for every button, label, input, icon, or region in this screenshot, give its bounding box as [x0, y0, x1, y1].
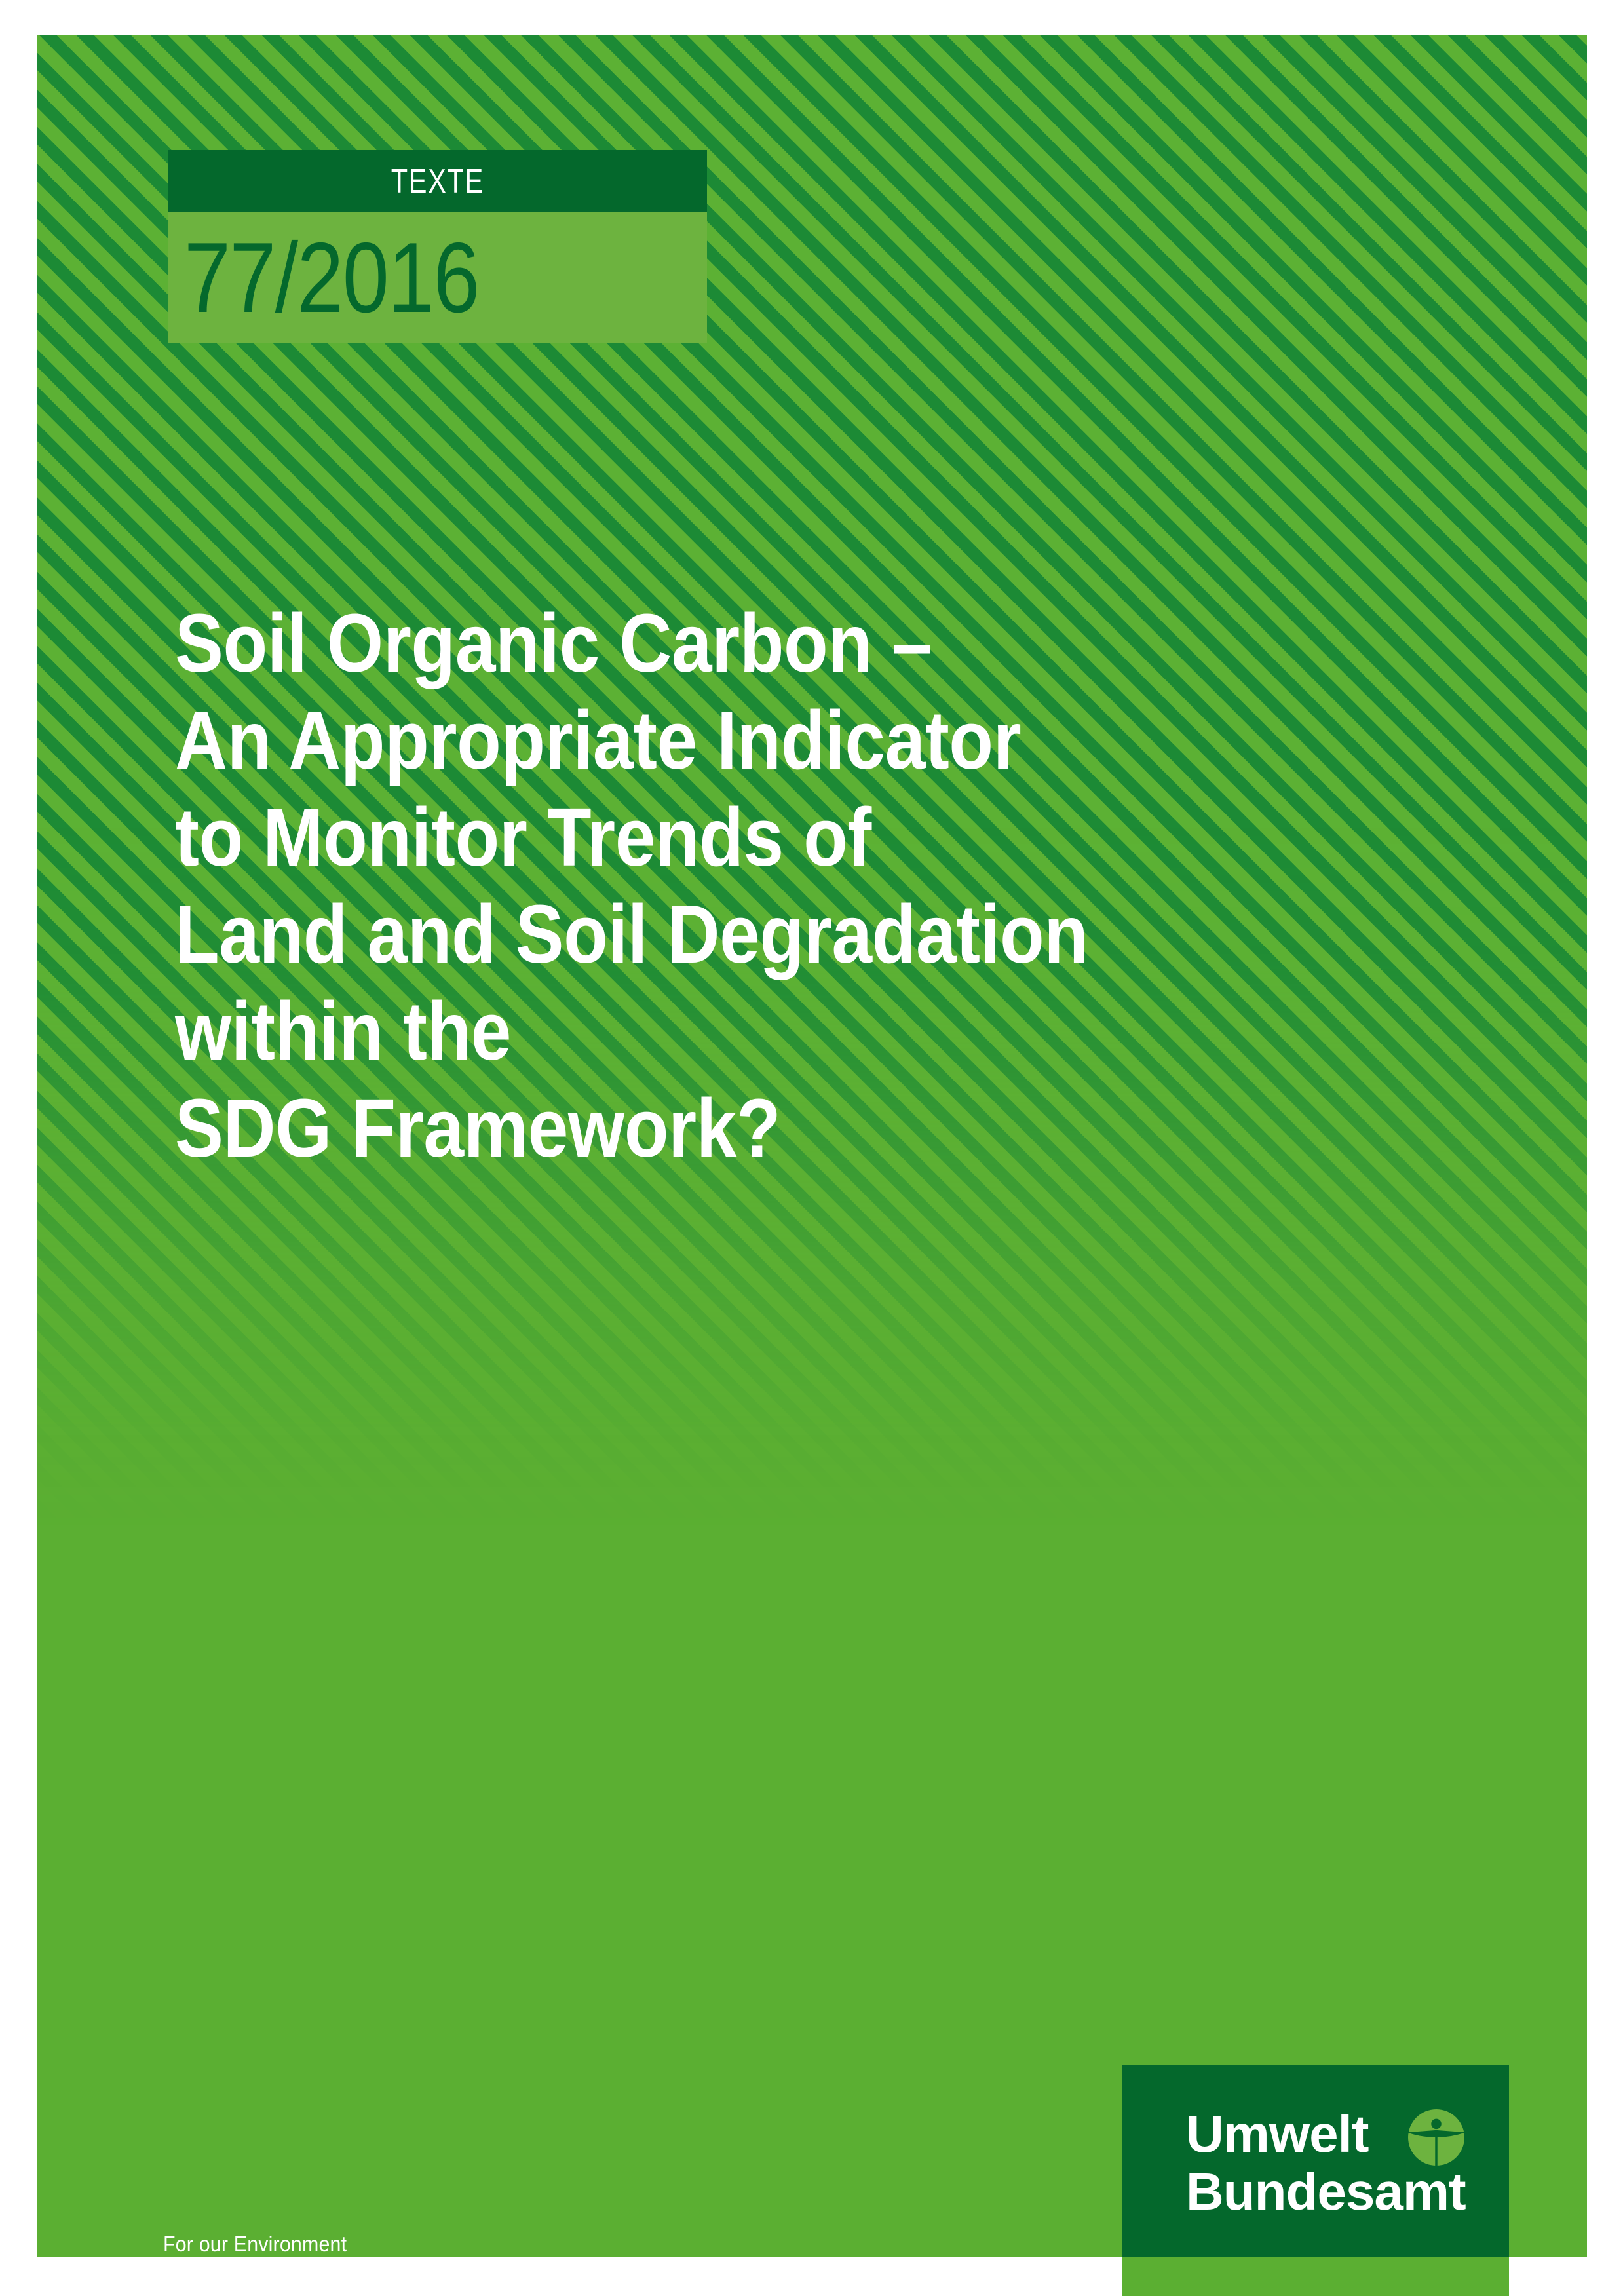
title-line-2: An Appropriate Indicator [175, 692, 1357, 789]
umweltbundesamt-figure-icon [1408, 2109, 1464, 2166]
logo-line-bundesamt: Bundesamt [1186, 2163, 1466, 2221]
cover-panel: TEXTE 77/2016 Soil Organic Carbon – An A… [37, 35, 1587, 2257]
series-number-box: 77/2016 [168, 212, 707, 343]
series-label: TEXTE [391, 162, 484, 201]
title-line-5: within the [175, 983, 1357, 1080]
tagline: For our Environment [163, 2232, 347, 2257]
series-block: TEXTE 77/2016 [168, 150, 340, 343]
page-title: Soil Organic Carbon – An Appropriate Ind… [175, 595, 1518, 1177]
umweltbundesamt-logo: Umwelt Bundesamt [1122, 2065, 1509, 2257]
title-line-4: Land and Soil Degradation [175, 886, 1357, 983]
title-line-3: to Monitor Trends of [175, 789, 1357, 886]
series-number: 77/2016 [184, 229, 479, 327]
title-line-1: Soil Organic Carbon – [175, 595, 1357, 692]
title-line-6: SDG Framework? [175, 1080, 1357, 1177]
series-label-box: TEXTE [168, 150, 707, 212]
